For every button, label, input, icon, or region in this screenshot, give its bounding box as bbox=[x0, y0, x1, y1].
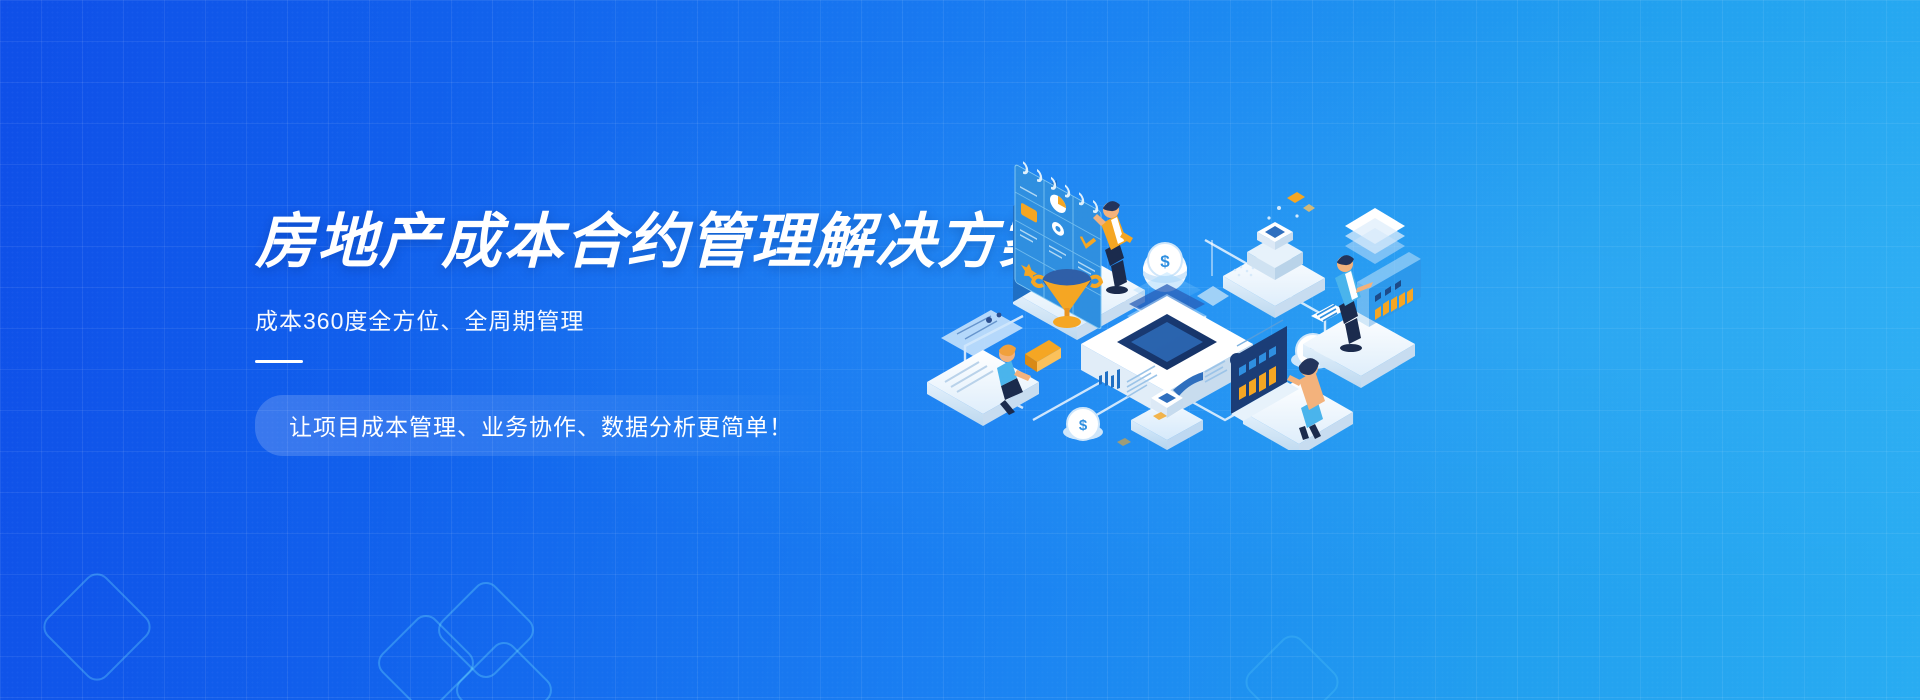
tablet-orange bbox=[1025, 340, 1061, 372]
diamond-bottom-right bbox=[1240, 630, 1345, 700]
calendar-board-plate bbox=[1009, 158, 1145, 340]
stacked-plates bbox=[1345, 208, 1405, 264]
coin-dollar-2: $ bbox=[1063, 408, 1103, 440]
diamond-bottom-mid-c bbox=[450, 636, 557, 700]
hero-tagline: 让项目成本管理、业务协作、数据分析更简单！ bbox=[255, 395, 827, 456]
diamond-bottom-left bbox=[38, 568, 157, 687]
upload-pedestal bbox=[1197, 192, 1325, 318]
hero-banner: 房地产成本合约管理解决方案 成本360度全方位、全周期管理 让项目成本管理、业务… bbox=[0, 0, 1920, 700]
page-title: 房地产成本合约管理解决方案 bbox=[255, 210, 1015, 274]
title-divider bbox=[255, 360, 303, 363]
diamond-bottom-mid-b bbox=[432, 576, 539, 683]
svg-text:$: $ bbox=[1160, 252, 1170, 271]
diamond-bottom-mid-a bbox=[372, 609, 479, 700]
hero-copy: 房地产成本合约管理解决方案 成本360度全方位、全周期管理 让项目成本管理、业务… bbox=[255, 210, 1015, 456]
person-sitting-laptop bbox=[927, 310, 1061, 426]
hero-subtitle: 成本360度全方位、全周期管理 bbox=[255, 302, 1015, 336]
isometric-illustration: $ $ $ bbox=[905, 120, 1425, 450]
tagline-pill-wrap: 让项目成本管理、业务协作、数据分析更简单！ bbox=[255, 395, 827, 456]
svg-text:$: $ bbox=[1079, 417, 1088, 434]
